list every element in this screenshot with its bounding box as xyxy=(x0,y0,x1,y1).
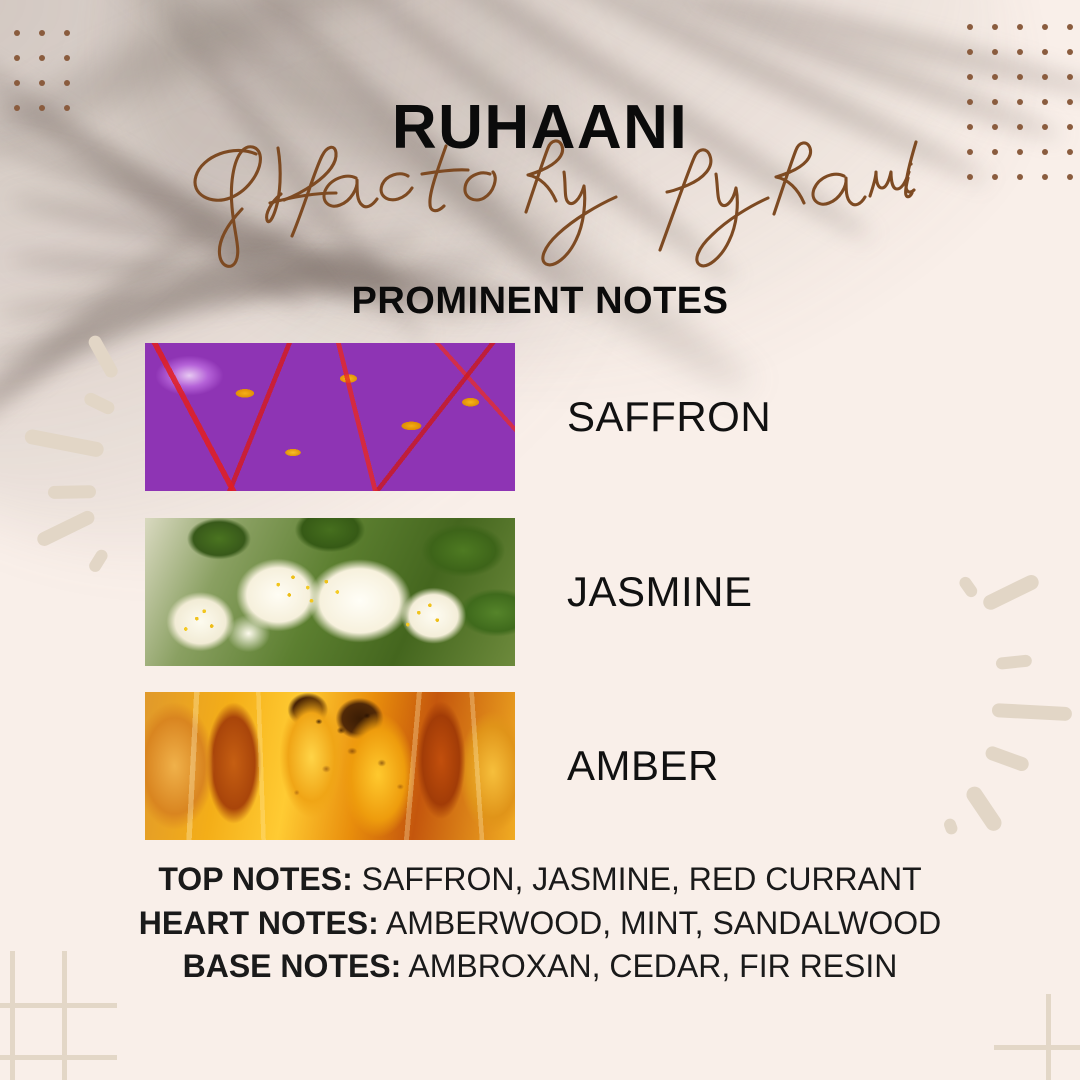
pyramid-tier-top: TOP NOTES: xyxy=(158,861,352,897)
decorative-dot xyxy=(992,24,998,30)
note-label-amber: AMBER xyxy=(567,742,719,790)
decorative-dot xyxy=(1017,24,1023,30)
pyramid-notes-base: AMBROXAN, CEDAR, FIR RESIN xyxy=(408,948,897,984)
perfume-notes-poster: RUHAANI Olfactory Pyramid PROMINENT NOTE… xyxy=(0,0,1080,1080)
decorative-dot xyxy=(967,74,973,80)
decorative-dot xyxy=(1067,49,1073,55)
decorative-dot xyxy=(1017,74,1023,80)
pyramid-line-base: BASE NOTES: AMBROXAN, CEDAR, FIR RESIN xyxy=(0,945,1080,989)
decorative-dot xyxy=(1067,24,1073,30)
decorative-dot xyxy=(1042,49,1048,55)
decorative-dot xyxy=(1042,24,1048,30)
decorative-dot xyxy=(992,74,998,80)
pyramid-tier-heart: HEART NOTES: xyxy=(139,905,379,941)
note-row-amber: AMBER xyxy=(145,692,945,840)
prominent-notes-heading: PROMINENT NOTES xyxy=(0,280,1080,323)
saffron-image xyxy=(145,343,515,491)
decorative-dot xyxy=(1067,74,1073,80)
pyramid-tier-base: BASE NOTES: xyxy=(183,948,402,984)
note-row-jasmine: JASMINE xyxy=(145,518,945,666)
pyramid-line-heart: HEART NOTES: AMBERWOOD, MINT, SANDALWOOD xyxy=(0,902,1080,946)
pyramid-notes-heart: AMBERWOOD, MINT, SANDALWOOD xyxy=(386,905,941,941)
pyramid-notes-top: SAFFRON, JASMINE, RED CURRANT xyxy=(362,861,922,897)
note-row-saffron: SAFFRON xyxy=(145,343,945,491)
note-label-jasmine: JASMINE xyxy=(567,568,753,616)
decorative-dot xyxy=(1017,49,1023,55)
decorative-dot xyxy=(967,49,973,55)
decorative-dot xyxy=(1042,74,1048,80)
sunburst-rays-right xyxy=(930,550,1080,880)
amber-image xyxy=(145,692,515,840)
jasmine-image xyxy=(145,518,515,666)
pyramid-line-top: TOP NOTES: SAFFRON, JASMINE, RED CURRANT xyxy=(0,858,1080,902)
olfactory-pyramid-list: TOP NOTES: SAFFRON, JASMINE, RED CURRANT… xyxy=(0,858,1080,989)
brand-title: RUHAANI xyxy=(0,92,1080,163)
decorative-dot xyxy=(967,24,973,30)
note-label-saffron: SAFFRON xyxy=(567,393,771,441)
decorative-dot xyxy=(992,49,998,55)
